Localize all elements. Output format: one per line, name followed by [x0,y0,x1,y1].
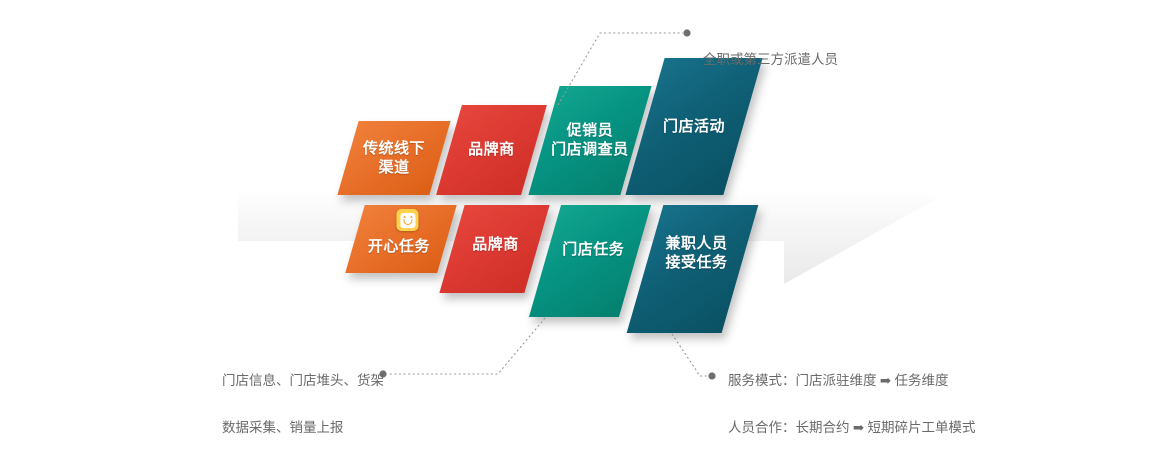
smiley-icon [396,209,418,231]
top-chevron-1-label: 传统线下 渠道 [363,139,425,177]
leader-bottom-left [387,318,545,374]
annotation-bottom-right: 服务模式：门店派驻维度 ➡ 任务维度 人员合作：长期合约 ➡ 短期碎片工单模式 [728,345,976,463]
leader-dot-top-right [683,29,690,36]
top-chevron-2-label: 品牌商 [468,140,515,159]
bottom-chevron-4-label: 兼职人员 接受任务 [666,234,728,272]
annotation-bottom-left-line1: 门店信息、门店堆头、货架 [222,369,384,393]
bottom-chevron-3-label: 门店任务 [562,240,624,259]
annotation-bottom-right-line1: 服务模式：门店派驻维度 ➡ 任务维度 [728,369,976,393]
annotation-top-right-line1: 全职或第三方派遣人员 [703,48,838,72]
annotation-bottom-left-line2: 数据采集、销量上报 [222,416,384,440]
leader-bottom-right [672,334,709,376]
bottom-chevron-1[interactable]: 开心任务 [345,205,456,273]
diagram-canvas: 传统线下 渠道 品牌商 促销员 门店调查员 门店活动 开心任务 品牌商 门店任务… [0,0,1150,430]
bottom-chevron-1-label: 开心任务 [368,237,430,256]
annotation-bottom-right-line2: 人员合作：长期合约 ➡ 短期碎片工单模式 [728,416,976,440]
annotation-bottom-left: 门店信息、门店堆头、货架 数据采集、销量上报 [222,345,384,463]
leader-dot-bottom-right [708,372,715,379]
top-chevron-4-label: 门店活动 [663,117,725,136]
top-chevron-3-label: 促销员 门店调查员 [551,121,629,159]
bottom-chevron-2-label: 品牌商 [472,235,519,254]
annotation-top-right: 全职或第三方派遣人员 [703,24,838,95]
